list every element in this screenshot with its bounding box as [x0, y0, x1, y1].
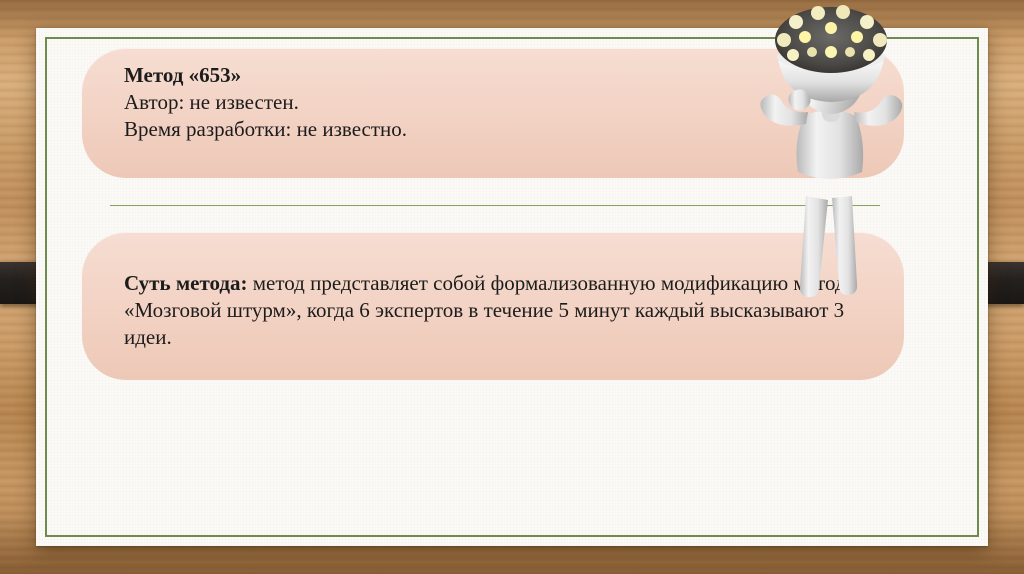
slide: Метод «653» Автор: не известен. Время ра… [0, 0, 1024, 574]
person-with-bowl-of-ideas-illustration [700, 0, 960, 320]
figure-arm-right [854, 95, 902, 126]
figure-legs [800, 196, 857, 297]
essence-label: Суть метода: [124, 271, 248, 295]
